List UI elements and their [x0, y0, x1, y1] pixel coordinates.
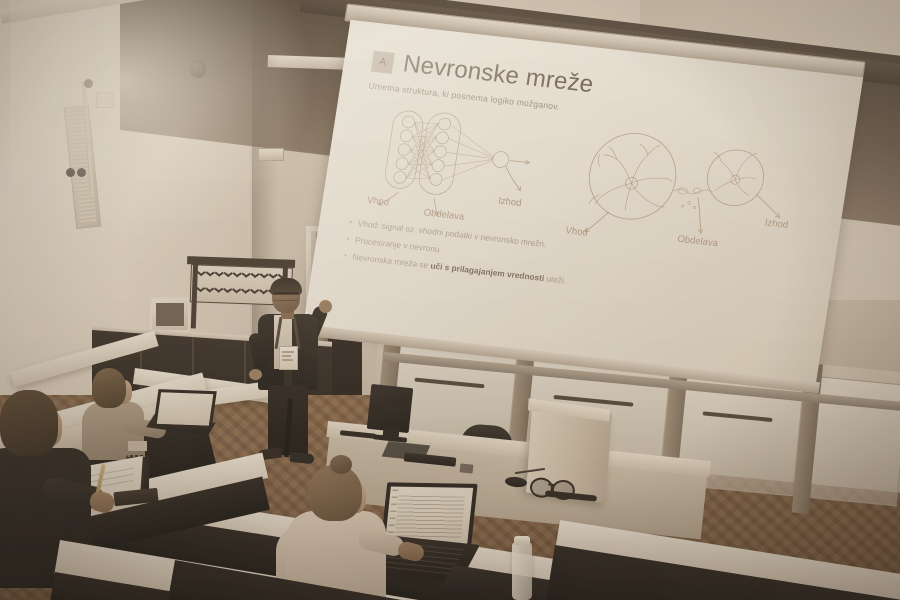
- bullet-dot-icon: •: [349, 218, 353, 227]
- slide-badge: A: [371, 50, 395, 73]
- lecture-hall-photo: A Nevronske mreže Umetna struktura, ki p…: [0, 0, 900, 600]
- coat-hook-icon[interactable]: [233, 270, 242, 279]
- coat-hook-icon[interactable]: [205, 285, 214, 294]
- student-laptop: [286, 455, 486, 600]
- coat-hook-icon[interactable]: [197, 268, 206, 277]
- presenter-hand: [319, 300, 332, 313]
- wall-socket-icon[interactable]: [66, 168, 75, 177]
- coat-hook-icon[interactable]: [214, 285, 223, 294]
- slide-bullet-text: Procesiranje v nevronu: [354, 236, 440, 254]
- glasses-icon: [273, 292, 299, 301]
- coat-hook-icon[interactable]: [242, 270, 251, 279]
- biological-neuron-diagram: Vhod Obdelava Izhod: [564, 122, 831, 267]
- wall-sign: [258, 148, 284, 161]
- ceiling-speaker-icon: [190, 60, 206, 78]
- bullet-dot-icon: •: [346, 235, 350, 244]
- coat-hook-icon[interactable]: [224, 269, 233, 278]
- water-bottle[interactable]: [512, 542, 532, 600]
- student-laptop-head: [308, 465, 362, 521]
- presenter: [248, 281, 344, 471]
- monitor[interactable]: [367, 384, 413, 433]
- pens: [128, 441, 147, 457]
- wall-socket-icon[interactable]: [77, 168, 86, 177]
- laptop-screen-text: [395, 496, 466, 539]
- coat-hook-icon[interactable]: [223, 285, 232, 294]
- neural-network-diagram: Vhod Obdelava Izhod: [369, 102, 560, 232]
- coat-hook-icon[interactable]: [206, 269, 215, 278]
- conference-badge: [279, 346, 298, 370]
- student-writing-hair: [0, 390, 58, 456]
- projection-screen-surface: A Nevronske mreže Umetna struktura, ki p…: [303, 20, 863, 384]
- water-bottle-cap[interactable]: [514, 536, 530, 545]
- coat-hook-icon[interactable]: [232, 286, 241, 295]
- presenter-hand: [249, 369, 262, 380]
- bullet-dot-icon: •: [343, 252, 347, 261]
- presentation-slide: A Nevronske mreže Umetna struktura, ki p…: [303, 20, 863, 384]
- coat-hook-icon[interactable]: [215, 269, 224, 278]
- nn-label-input: Vhod: [366, 195, 390, 208]
- projection-screen: A Nevronske mreže Umetna struktura, ki p…: [295, 10, 900, 442]
- neuron-label-input: Vhod: [565, 225, 589, 238]
- wall-plate-icon: [96, 92, 114, 108]
- student-laptop-hair-bun: [330, 455, 352, 474]
- coat-hook-icon[interactable]: [260, 271, 269, 280]
- coat-hook-icon[interactable]: [196, 284, 205, 293]
- laptop-screen[interactable]: [153, 389, 217, 429]
- wall-fixture-icon: [84, 79, 93, 88]
- coat-hook-icon[interactable]: [251, 270, 260, 279]
